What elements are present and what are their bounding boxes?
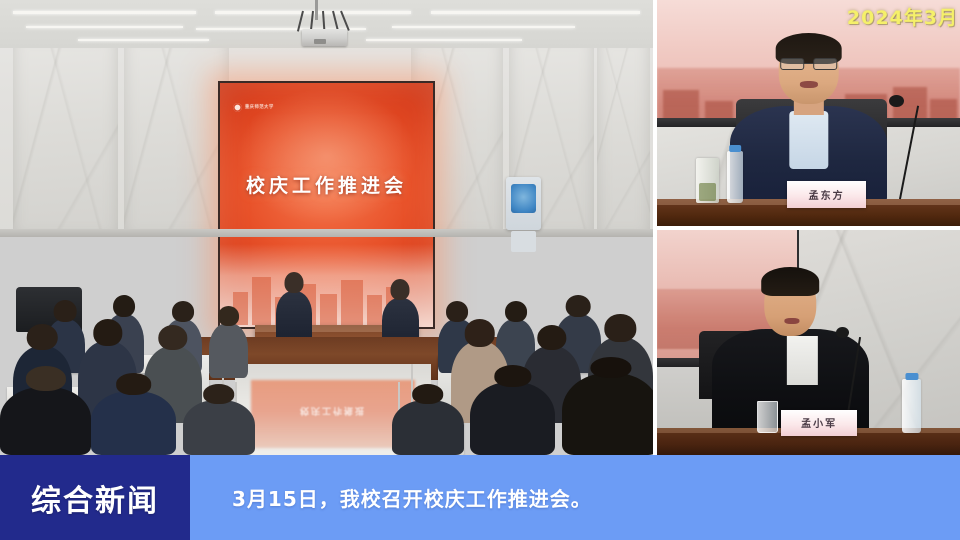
water-bottle: [902, 379, 920, 433]
speaker-mouth: [799, 81, 817, 88]
water-glass: [757, 401, 778, 433]
wall-trim: [0, 229, 653, 237]
person-head: [605, 314, 636, 342]
person-head: [446, 301, 468, 322]
thermos-cup: [696, 158, 719, 203]
person-head: [412, 384, 444, 404]
person-head: [27, 324, 58, 350]
person-head: [218, 306, 240, 327]
person-head: [537, 325, 566, 351]
speaker-shirt: [789, 111, 828, 170]
news-category-label: 综合新闻: [31, 476, 159, 520]
water-dispenser-base: [511, 231, 536, 251]
audience-person: [562, 373, 653, 455]
main-conference-photo: 重庆师范大学 校庆工作推进会: [0, 0, 653, 455]
seated-chairperson: [276, 291, 313, 341]
speaker-shirt: [787, 336, 817, 386]
logo-emblem-icon: [233, 103, 242, 112]
person-head: [93, 319, 122, 346]
audience-person: [0, 387, 91, 455]
screenshot-root: 重庆师范大学 校庆工作推进会: [0, 0, 960, 540]
nameplate-text: 孟东方: [809, 187, 845, 202]
top-right-speaker-photo: 孟东方 2024年3月: [657, 0, 960, 226]
marble-panel: [124, 36, 228, 236]
person-head: [54, 300, 77, 322]
university-logo: 重庆师范大学: [233, 103, 274, 112]
person-head: [116, 373, 152, 395]
ceiling-projector: [302, 29, 348, 46]
logo-text: 重庆师范大学: [245, 104, 274, 110]
audience-person: [392, 400, 464, 455]
person-head: [172, 301, 194, 322]
water-dispenser: [506, 177, 541, 229]
floor-reflection-text: 校庆工作推进: [251, 405, 414, 418]
water-bottle: [727, 151, 744, 203]
person-head: [158, 325, 187, 351]
person-head: [590, 357, 631, 378]
nameplate-text: 孟小军: [801, 415, 837, 430]
person-head: [465, 319, 496, 347]
audience-person: [470, 382, 555, 455]
marble-panel: [597, 36, 649, 236]
audience-person: [183, 400, 255, 455]
speaker-nameplate: 孟东方: [787, 181, 866, 208]
speaker-mouth: [784, 318, 799, 324]
news-banner: 综合新闻 3月15日，我校召开校庆工作推进会。: [0, 455, 960, 540]
person-head: [566, 295, 591, 317]
date-stamp-overlay: 2024年3月: [847, 3, 958, 30]
person-head: [391, 279, 410, 300]
news-caption-text: 3月15日，我校召开校庆工作推进会。: [232, 483, 592, 512]
person-head: [284, 272, 303, 293]
screen-title: 校庆工作推进会: [220, 171, 433, 198]
person-head: [26, 366, 66, 391]
audience-person: [91, 391, 176, 455]
person-head: [505, 301, 527, 322]
news-category-tag: 综合新闻: [0, 455, 190, 540]
audience-person: [209, 323, 248, 378]
bottom-right-speaker-photo: 孟小军: [657, 230, 960, 455]
person-head: [113, 295, 135, 317]
glasses-icon: [780, 58, 838, 70]
marble-panel: [13, 36, 117, 236]
person-head: [203, 384, 235, 404]
news-caption-bar: 3月15日，我校召开校庆工作推进会。: [190, 455, 960, 540]
speaker-nameplate: 孟小军: [781, 410, 857, 436]
person-head: [494, 365, 531, 387]
speaker-hair: [762, 267, 820, 296]
